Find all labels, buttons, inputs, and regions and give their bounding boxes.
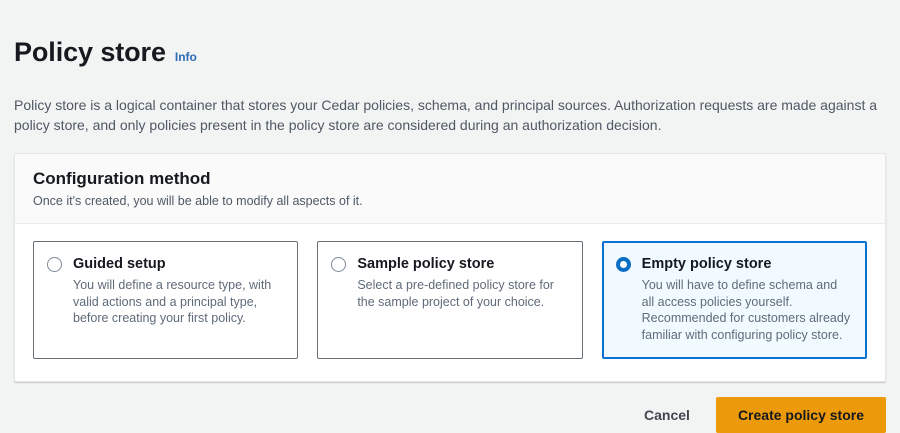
tile-description: You will define a resource type, with va… [73, 277, 283, 327]
section-title: Configuration method [33, 168, 867, 190]
tile-empty-policy-store[interactable]: Empty policy store You will have to defi… [602, 241, 867, 359]
tile-label: Empty policy store [642, 255, 852, 274]
container-header: Configuration method Once it's created, … [15, 154, 885, 224]
container-body: Guided setup You will define a resource … [15, 224, 885, 381]
tile-text-sample-policy-store: Sample policy store Select a pre-defined… [357, 255, 567, 310]
radio-icon-guided-setup[interactable] [47, 257, 62, 272]
tile-description-secondary: Recommended for customers already famili… [642, 310, 852, 343]
radio-icon-sample-policy-store[interactable] [331, 257, 346, 272]
configuration-method-container: Configuration method Once it's created, … [14, 153, 886, 382]
footer-actions: Cancel Create policy store [14, 397, 886, 433]
section-subtitle: Once it's created, you will be able to m… [33, 193, 867, 210]
page-header: Policy store Info Policy store is a logi… [0, 0, 900, 135]
info-link[interactable]: Info [175, 50, 197, 64]
tile-sample-policy-store[interactable]: Sample policy store Select a pre-defined… [317, 241, 582, 359]
cancel-button[interactable]: Cancel [634, 399, 700, 431]
radio-icon-empty-policy-store[interactable] [616, 257, 631, 272]
configuration-method-tiles: Guided setup You will define a resource … [33, 241, 867, 359]
tile-text-guided-setup: Guided setup You will define a resource … [73, 255, 283, 327]
tile-text-empty-policy-store: Empty policy store You will have to defi… [642, 255, 852, 343]
title-row: Policy store Info [14, 18, 886, 86]
page-description: Policy store is a logical container that… [14, 95, 886, 135]
tile-label: Guided setup [73, 255, 283, 274]
tile-guided-setup[interactable]: Guided setup You will define a resource … [33, 241, 298, 359]
tile-description: You will have to define schema and all a… [642, 277, 852, 310]
create-policy-store-button[interactable]: Create policy store [716, 397, 886, 433]
page-title: Policy store [14, 36, 166, 68]
tile-label: Sample policy store [357, 255, 567, 274]
tile-description: Select a pre-defined policy store for th… [357, 277, 567, 310]
